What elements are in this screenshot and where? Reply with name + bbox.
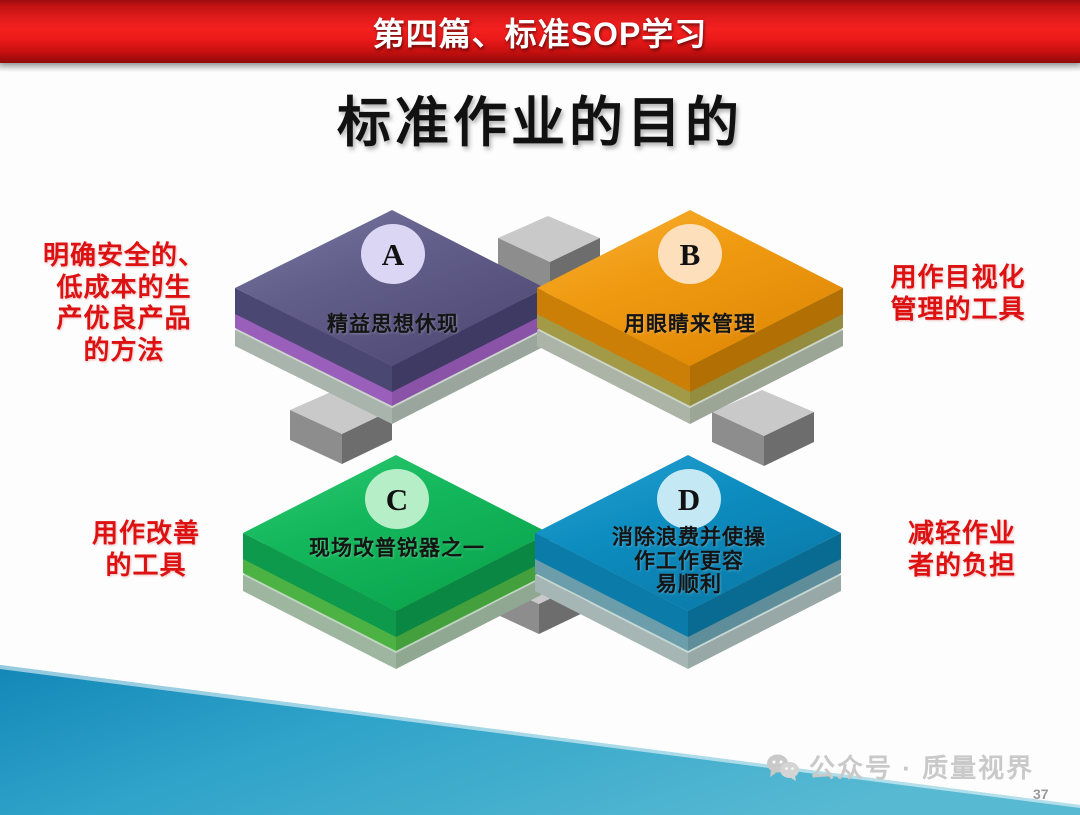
side-note-b-line-2: 管理的工具 <box>858 294 1058 326</box>
side-note-c: 用作改善 的工具 <box>56 518 236 581</box>
side-note-a-line-1: 明确安全的、 <box>24 240 224 272</box>
block-d-letter: D <box>659 482 719 518</box>
side-note-c-line-1: 用作改善 <box>56 518 236 550</box>
side-note-b-line-1: 用作目视化 <box>858 262 1058 294</box>
side-note-a: 明确安全的、 低成本的生 产优良产品 的方法 <box>24 240 224 367</box>
slide-canvas: 第四篇、标准SOP学习 标准作业的目的 <box>0 0 1080 815</box>
block-c-letter: C <box>367 482 427 518</box>
block-d-label-line-3: 易顺利 <box>589 573 789 597</box>
block-b-letter: B <box>660 237 720 273</box>
page-number: 37 <box>1033 786 1049 802</box>
side-note-d-line-1: 减轻作业 <box>872 518 1052 550</box>
block-d-label: 消除浪费并使操 作工作更容 易顺利 <box>589 526 789 597</box>
block-d-label-line-1: 消除浪费并使操 <box>589 526 789 550</box>
block-c-label: 现场改普锐器之一 <box>287 532 507 562</box>
block-b-label: 用眼睛来管理 <box>610 308 770 338</box>
side-note-d-line-2: 者的负担 <box>872 550 1052 582</box>
bottom-decoration <box>0 665 1080 815</box>
side-note-b: 用作目视化 管理的工具 <box>858 262 1058 325</box>
wechat-watermark: 公众号 · 质量视界 <box>766 748 1034 785</box>
block-a-label: 精益思想休现 <box>313 308 473 338</box>
block-d-label-line-2: 作工作更容 <box>589 550 789 574</box>
side-note-a-line-4: 的方法 <box>24 335 224 367</box>
banner-title: 第四篇、标准SOP学习 <box>373 9 708 55</box>
watermark-text: 公众号 · 质量视界 <box>809 748 1034 785</box>
side-note-a-line-3: 产优良产品 <box>24 303 224 335</box>
side-note-a-line-2: 低成本的生 <box>24 272 224 304</box>
block-a-letter: A <box>363 237 423 273</box>
side-note-d: 减轻作业 者的负担 <box>872 518 1052 581</box>
wechat-icon <box>766 753 800 781</box>
side-note-c-line-2: 的工具 <box>56 550 236 582</box>
